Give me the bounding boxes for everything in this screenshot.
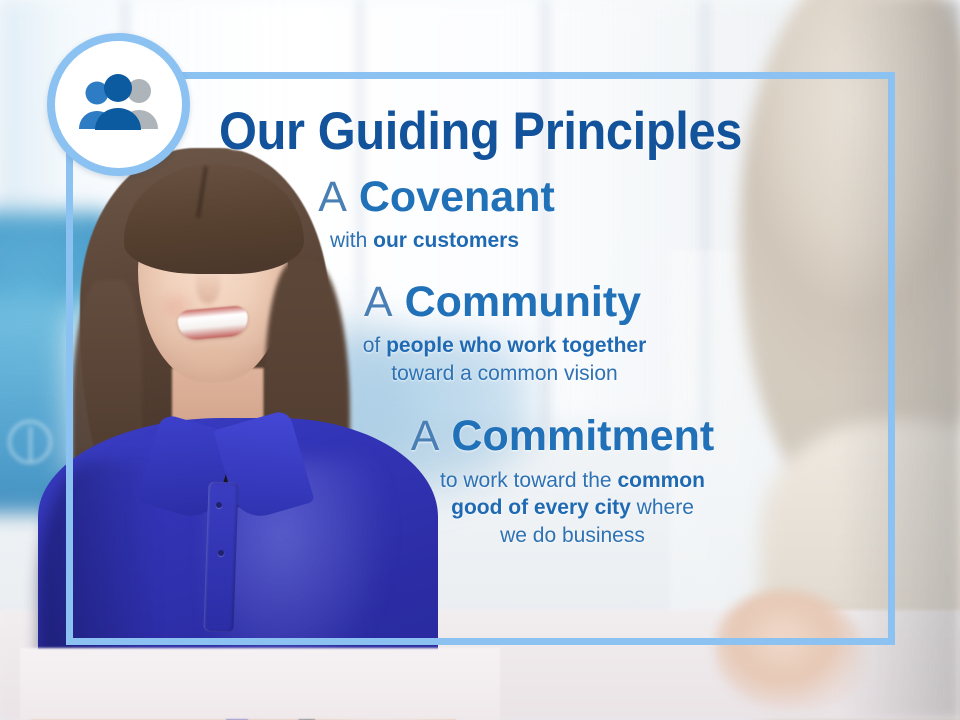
emphasis-text: good of every city — [451, 496, 631, 519]
page-title: Our Guiding Principles — [132, 104, 828, 160]
principle-title: A Commitment — [184, 413, 941, 460]
emphasis-text: people who work together — [386, 334, 646, 357]
desk-front-surface — [20, 648, 500, 720]
principle-article: A — [318, 173, 347, 221]
principle-covenant: A Covenant with our customers — [102, 174, 859, 255]
principle-keyword: Community — [405, 278, 642, 326]
principle-commitment: A Commitment to work toward the common g… — [102, 413, 859, 549]
principle-subtext-line: with our customers — [46, 227, 803, 255]
principle-article: A — [364, 278, 393, 326]
plain-text: toward a common vision — [391, 362, 617, 385]
plain-text: where — [631, 496, 694, 519]
plain-text: we do business — [500, 524, 645, 547]
emphasis-text: our customers — [373, 229, 519, 252]
emphasis-text: common — [617, 469, 705, 492]
plain-text: of — [363, 334, 386, 357]
plain-text: to work toward the — [440, 469, 617, 492]
principle-subtext: with our customers — [46, 227, 803, 255]
principle-keyword: Covenant — [359, 173, 555, 221]
principle-subtext-line: of people who work together — [126, 332, 883, 360]
principle-subtext-line: good of every city where — [194, 494, 951, 522]
plain-text: with — [330, 229, 373, 252]
principle-subtext-line: toward a common vision — [126, 360, 883, 388]
principle-article: A — [411, 412, 440, 460]
principle-subtext: of people who work together toward a com… — [126, 332, 883, 387]
principle-subtext: to work toward the common good of every … — [194, 467, 951, 550]
principle-subtext-line: we do business — [194, 522, 951, 550]
principle-title: A Covenant — [58, 174, 815, 221]
principle-subtext-line: to work toward the common — [194, 467, 951, 495]
principle-keyword: Commitment — [451, 412, 714, 460]
principle-community: A Community of people who work together … — [102, 279, 859, 388]
text-content: Our Guiding Principles A Covenant with o… — [66, 72, 895, 645]
banner-canvas: FLOW FLOW AUTOMOTIVE — [0, 0, 960, 720]
principle-title: A Community — [124, 279, 881, 326]
